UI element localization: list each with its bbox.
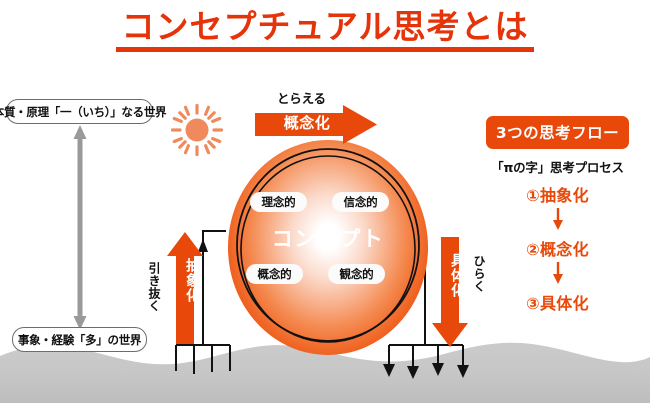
page-title-text: コンセプチュアル思考とは <box>0 8 650 46</box>
thinking-flow-subtitle: 「πの字」思考プロセス <box>470 157 645 176</box>
vertical-scale-arrow <box>74 125 87 330</box>
arrow-concretize-label: 具体化 <box>436 253 464 298</box>
thinking-flow-step-2: ②概念化 <box>470 236 645 260</box>
concept-pill-kannen: 観念的 <box>328 264 385 284</box>
concept-pill-shinen: 信念的 <box>332 192 389 212</box>
flow-down-arrow-icon <box>552 208 564 230</box>
thinking-flow-panel: 3つの思考フロー 「πの字」思考プロセス ①抽象化 ②概念化 ③具体化 <box>470 116 645 314</box>
page-title: コンセプチュアル思考とは <box>0 8 650 52</box>
sun-icon <box>170 103 224 157</box>
arrow-abstract-caption: 引き抜く <box>145 262 163 312</box>
concept-pill-rinen: 理念的 <box>250 192 307 212</box>
arrow-conceptualize-label: 概念化 <box>267 112 347 133</box>
thinking-flow-step-3: ③具体化 <box>470 290 645 314</box>
axis-label-phenomena: 事象・経験「多」の世界 <box>12 327 147 352</box>
thinking-flow-step-1: ①抽象化 <box>470 182 645 206</box>
concept-ellipse: 理念的 信念的 概念的 観念的 コンセプト <box>228 140 428 355</box>
concept-pill-gainen: 概念的 <box>246 264 303 284</box>
thinking-flow-badge: 3つの思考フロー <box>486 116 629 149</box>
arrow-conceptualize: とらえる 概念化 <box>255 88 395 144</box>
flow-down-arrow-icon <box>552 262 564 284</box>
diagram-canvas: コンセプチュアル思考とは <box>0 0 650 403</box>
arrow-abstract-label: 抽象化 <box>171 258 199 303</box>
concept-center-label: コンセプト <box>228 223 428 253</box>
title-underline <box>116 47 534 52</box>
axis-label-essence: 本質・原理「一（いち）」なる世界 <box>6 99 153 124</box>
arrow-abstract: 抽象化 引き抜く <box>145 232 205 344</box>
